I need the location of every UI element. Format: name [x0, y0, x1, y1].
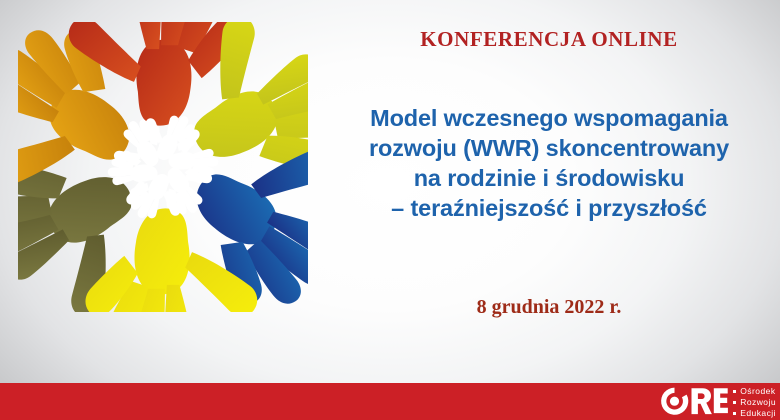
ore-tagline: Ośrodek Rozwoju Edukacji	[733, 383, 776, 420]
tagline-row-3: Edukacji	[733, 408, 776, 419]
bullet-icon	[733, 412, 736, 415]
tagline-line-2: Rozwoju	[740, 397, 776, 408]
tagline-row-2: Rozwoju	[733, 397, 776, 408]
title-line-3: na rodzinie i środowisku	[318, 163, 780, 193]
title-line-2: rozwoju (WWR) skoncentrowany	[318, 133, 780, 163]
tagline-line-3: Edukacji	[740, 408, 776, 419]
conference-title: Model wczesnego wspomagania rozwoju (WWR…	[318, 103, 780, 223]
ore-logo: Ośrodek Rozwoju Edukacji	[656, 383, 776, 420]
footer-bar: Ośrodek Rozwoju Edukacji	[0, 383, 780, 420]
tagline-row-1: Ośrodek	[733, 386, 776, 397]
title-line-4: – teraźniejszość i przyszłość	[318, 193, 780, 223]
conference-kicker: KONFERENCJA ONLINE	[318, 27, 780, 52]
six-hands-logo	[18, 22, 308, 312]
ore-wordmark-icon	[656, 383, 728, 420]
tagline-line-1: Ośrodek	[740, 386, 775, 397]
bullet-icon	[733, 390, 736, 393]
conference-banner: KONFERENCJA ONLINE Model wczesnego wspom…	[0, 0, 780, 420]
banner-content: KONFERENCJA ONLINE Model wczesnego wspom…	[318, 0, 780, 383]
bullet-icon	[733, 401, 736, 404]
title-line-1: Model wczesnego wspomagania	[318, 103, 780, 133]
event-date: 8 grudnia 2022 r.	[318, 296, 780, 319]
